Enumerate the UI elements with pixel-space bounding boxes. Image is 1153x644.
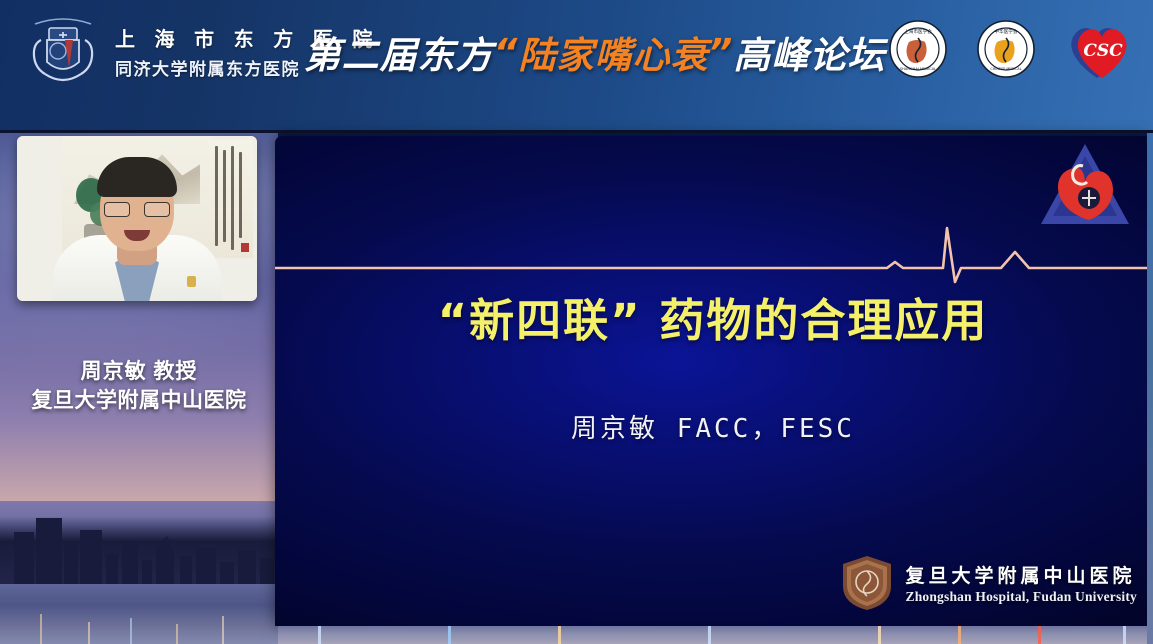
svg-text:上海市医学会: 上海市医学会 [904, 28, 932, 35]
speaker-name-block: 周京敏 教授 复旦大学附属中山医院 [0, 357, 278, 416]
slide-footer-branding: 复旦大学附属中山医院 Zhongshan Hospital, Fudan Uni… [841, 554, 1137, 612]
slide-title: “新四联” 药物的合理应用 [275, 284, 1151, 349]
sponsor-logos: 上海市医学会 SHANGHAI MEDICAL 中华医学会 CHINESE ME… [887, 18, 1131, 80]
forum-title-highlight: 陆家嘴心衰 [519, 25, 709, 79]
speaker-video-tile[interactable] [17, 136, 257, 301]
heart-triangle-emblem-icon [1037, 140, 1133, 232]
csc-heart-logo-icon: CSC [1063, 18, 1131, 80]
footer-hospital-en: Zhongshan Hospital, Fudan University [905, 589, 1137, 605]
forum-title-part1: 第二届东方 [304, 25, 494, 79]
speaker-name-line: 周京敏 教授 [0, 357, 278, 386]
ecg-waveform-icon [275, 222, 1151, 286]
forum-title-quote-open: “ [494, 31, 519, 74]
footer-hospital-cn: 复旦大学附属中山医院 [905, 561, 1137, 588]
lapel-badge [187, 276, 196, 287]
painting-seal-stamp [241, 243, 249, 252]
bottom-water-strip [278, 626, 1153, 644]
svg-text:CHINESE MEDICAL: CHINESE MEDICAL [990, 67, 1021, 71]
speaker-portrait [52, 183, 222, 301]
footer-text-block: 复旦大学附属中山医院 Zhongshan Hospital, Fudan Uni… [905, 561, 1137, 605]
forum-title-part2: 高峰论坛 [733, 25, 885, 79]
forum-title: 第二届东方“陆家嘴心衰”高峰论坛 [322, 22, 867, 82]
video-room-background [17, 136, 257, 301]
forum-title-quote-close: ” [709, 31, 734, 74]
right-edge-background [1147, 133, 1153, 644]
shanghai-east-hospital-crest-icon [25, 10, 101, 88]
csc-logo-text: CSC [1083, 41, 1123, 61]
city-skyline [0, 516, 278, 588]
glasses-icon [104, 202, 170, 217]
svg-text:中华医学会: 中华医学会 [995, 28, 1018, 35]
shanghai-medical-association-seal-icon: 上海市医学会 SHANGHAI MEDICAL [887, 18, 949, 80]
presentation-slide[interactable]: “新四联” 药物的合理应用 周京敏 FACC，FESC 复旦大学附属中山医院 Z… [275, 136, 1151, 626]
svg-text:SHANGHAI MEDICAL: SHANGHAI MEDICAL [900, 67, 936, 71]
speaker-affiliation-line: 复旦大学附属中山医院 [0, 386, 278, 416]
event-header-banner: 上 海 市 东 方 医 院 同济大学附属东方医院 第二届东方“陆家嘴心衰”高峰论… [0, 0, 1153, 133]
zhongshan-hospital-shield-icon [841, 554, 893, 612]
slide-presenter: 周京敏 FACC，FESC [275, 408, 1151, 445]
water-reflection [0, 584, 278, 644]
chinese-medical-association-seal-icon: 中华医学会 CHINESE MEDICAL [975, 18, 1037, 80]
